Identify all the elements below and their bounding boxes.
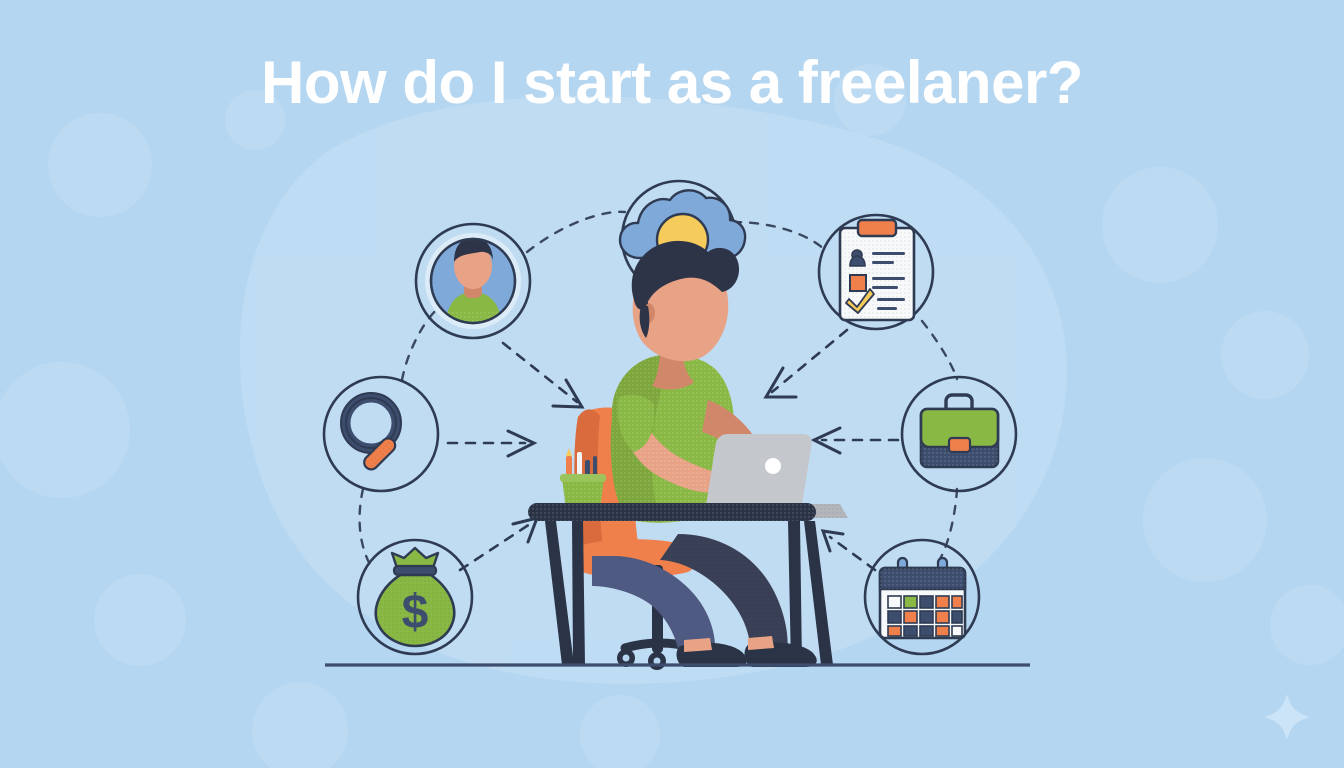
icon-profile[interactable] <box>416 224 530 338</box>
svg-text:$: $ <box>402 586 429 639</box>
infographic-canvas: $ <box>0 0 1344 768</box>
illustration-scene: $ <box>0 0 1344 768</box>
